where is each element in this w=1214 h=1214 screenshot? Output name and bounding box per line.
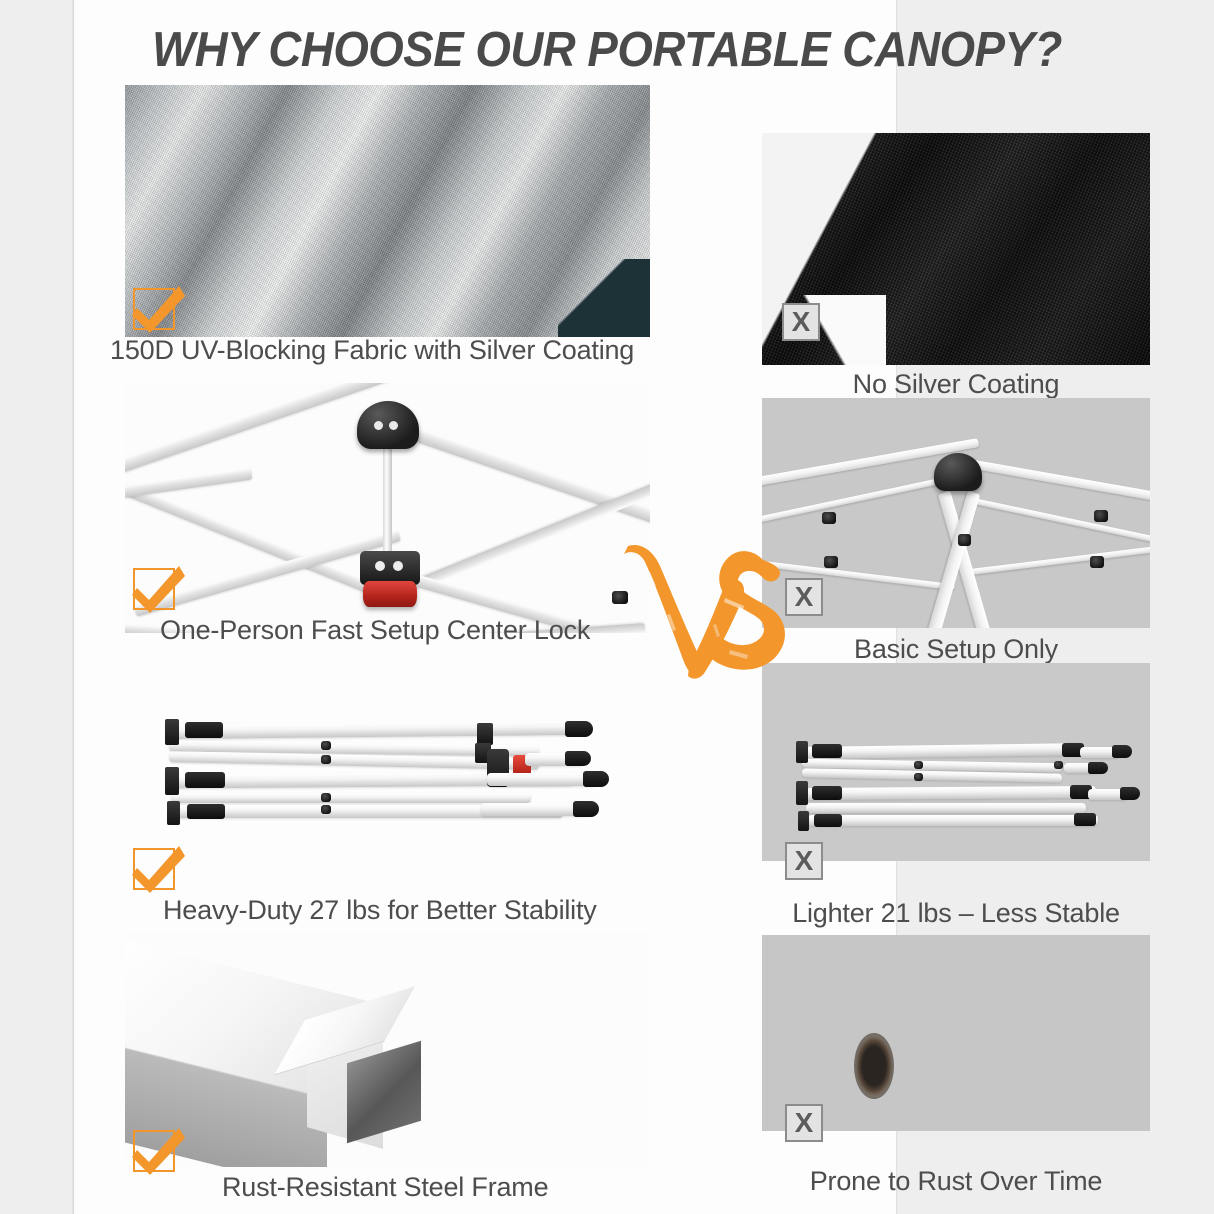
rusty-round-pipe-photo — [762, 935, 1150, 1131]
ours-row-4-check-icon — [133, 1130, 175, 1172]
bar-rivet — [321, 805, 331, 814]
bar-end-cap — [812, 744, 842, 758]
theirs-row-1-caption: No Silver Coating — [762, 369, 1150, 400]
bar-end-cap — [1112, 745, 1132, 758]
bar-end-cap — [185, 722, 223, 738]
theirs-row-3-caption: Lighter 21 lbs – Less Stable — [762, 898, 1150, 929]
theirs-row-2-caption: Basic Setup Only — [762, 634, 1150, 665]
theirs-row-4-caption: Prone to Rust Over Time — [762, 1166, 1150, 1197]
bar-end-cap — [1088, 762, 1108, 774]
theirs-row-1-x-icon: X — [782, 303, 820, 341]
frame-joint — [822, 512, 836, 524]
frame-joint — [1094, 510, 1108, 522]
bar-end-cap — [1074, 813, 1096, 826]
canopy-frame-center-lock-photo — [125, 383, 650, 633]
bar-rivet — [321, 755, 331, 764]
frame-joint — [824, 556, 838, 568]
bar-rivet — [321, 793, 331, 802]
theirs-row-4-image-panel — [762, 935, 1150, 1131]
frame-strut — [962, 546, 1150, 576]
ours-row-1-image-panel — [125, 85, 650, 337]
theirs-row-3-image-panel — [762, 663, 1150, 861]
frame-joint — [958, 534, 971, 546]
frame-joint — [1090, 556, 1104, 568]
bar-bracket — [798, 811, 809, 831]
folded-bar — [804, 743, 1084, 759]
bar-end-cap — [812, 786, 842, 800]
silver-coated-fabric-photo — [125, 85, 650, 337]
black-uncoated-fabric-photo — [762, 133, 1150, 365]
bar-bracket — [165, 767, 179, 795]
bar-bracket — [796, 741, 808, 763]
bar-end-cap — [565, 721, 593, 737]
theirs-row-4-x-icon: X — [785, 1104, 823, 1142]
frame-strut — [125, 383, 391, 475]
frame-top-hub — [357, 401, 419, 449]
hub-bolt — [374, 421, 383, 430]
folded-bar — [487, 773, 597, 786]
pipe-open-end — [854, 1033, 894, 1099]
folded-bar — [806, 803, 1086, 813]
theirs-row-2-x-icon: X — [785, 578, 823, 616]
bar-end-cap — [187, 804, 225, 819]
bar-bracket — [165, 719, 179, 745]
bar-end-cap — [573, 801, 599, 817]
folded-heavy-frame-photo — [125, 655, 650, 895]
frame-strut — [125, 468, 252, 499]
ours-row-3-caption: Heavy-Duty 27 lbs for Better Stability — [163, 895, 743, 926]
frame-strut — [973, 498, 1150, 543]
ours-row-1-caption: 150D UV-Blocking Fabric with Silver Coat… — [110, 335, 690, 366]
theirs-row-1-image-panel — [762, 133, 1150, 365]
lock-bolt — [375, 561, 385, 571]
frame-center-pole — [383, 438, 392, 558]
ours-row-4-image-panel — [125, 932, 650, 1167]
center-lock-body — [360, 551, 420, 585]
page-title: WHY CHOOSE OUR PORTABLE CANOPY? — [42, 22, 1171, 78]
bar-rivet — [914, 761, 923, 769]
hub-bolt — [389, 421, 398, 430]
bar-end-cap — [565, 751, 591, 766]
pipe-shaft — [852, 935, 1150, 1050]
page-left-edge-divider — [73, 0, 74, 1214]
folded-bar — [806, 786, 1096, 800]
lock-bolt — [393, 561, 403, 571]
vs-divider-badge: VS — [620, 538, 790, 698]
bar-rivet — [914, 773, 923, 781]
bar-end-cap — [814, 814, 842, 827]
folded-bar — [171, 793, 531, 803]
theirs-row-3-x-icon: X — [785, 842, 823, 880]
square-steel-tube-photo — [125, 932, 650, 1167]
folded-light-frame-photo — [762, 663, 1150, 861]
ours-row-4-caption: Rust-Resistant Steel Frame — [222, 1172, 802, 1203]
bar-end-cap — [1120, 787, 1140, 800]
bar-bracket — [477, 723, 493, 745]
bar-rivet — [1054, 761, 1063, 769]
folded-bar — [173, 721, 573, 739]
frame-strut — [762, 479, 938, 524]
frame-top-hub — [934, 453, 982, 491]
ours-row-3-check-icon — [133, 848, 175, 890]
ours-row-1-check-icon — [133, 288, 175, 330]
ours-row-3-image-panel — [125, 655, 650, 895]
ours-row-2-image-panel — [125, 383, 650, 633]
bar-bracket — [796, 781, 808, 805]
bar-rivet — [321, 741, 331, 750]
folded-bar — [808, 815, 1098, 826]
bar-end-cap — [185, 772, 225, 788]
bar-bracket — [167, 801, 180, 825]
ours-row-2-check-icon — [133, 568, 175, 610]
bar-end-cap — [583, 771, 609, 787]
center-lock-red-ring — [363, 581, 417, 607]
